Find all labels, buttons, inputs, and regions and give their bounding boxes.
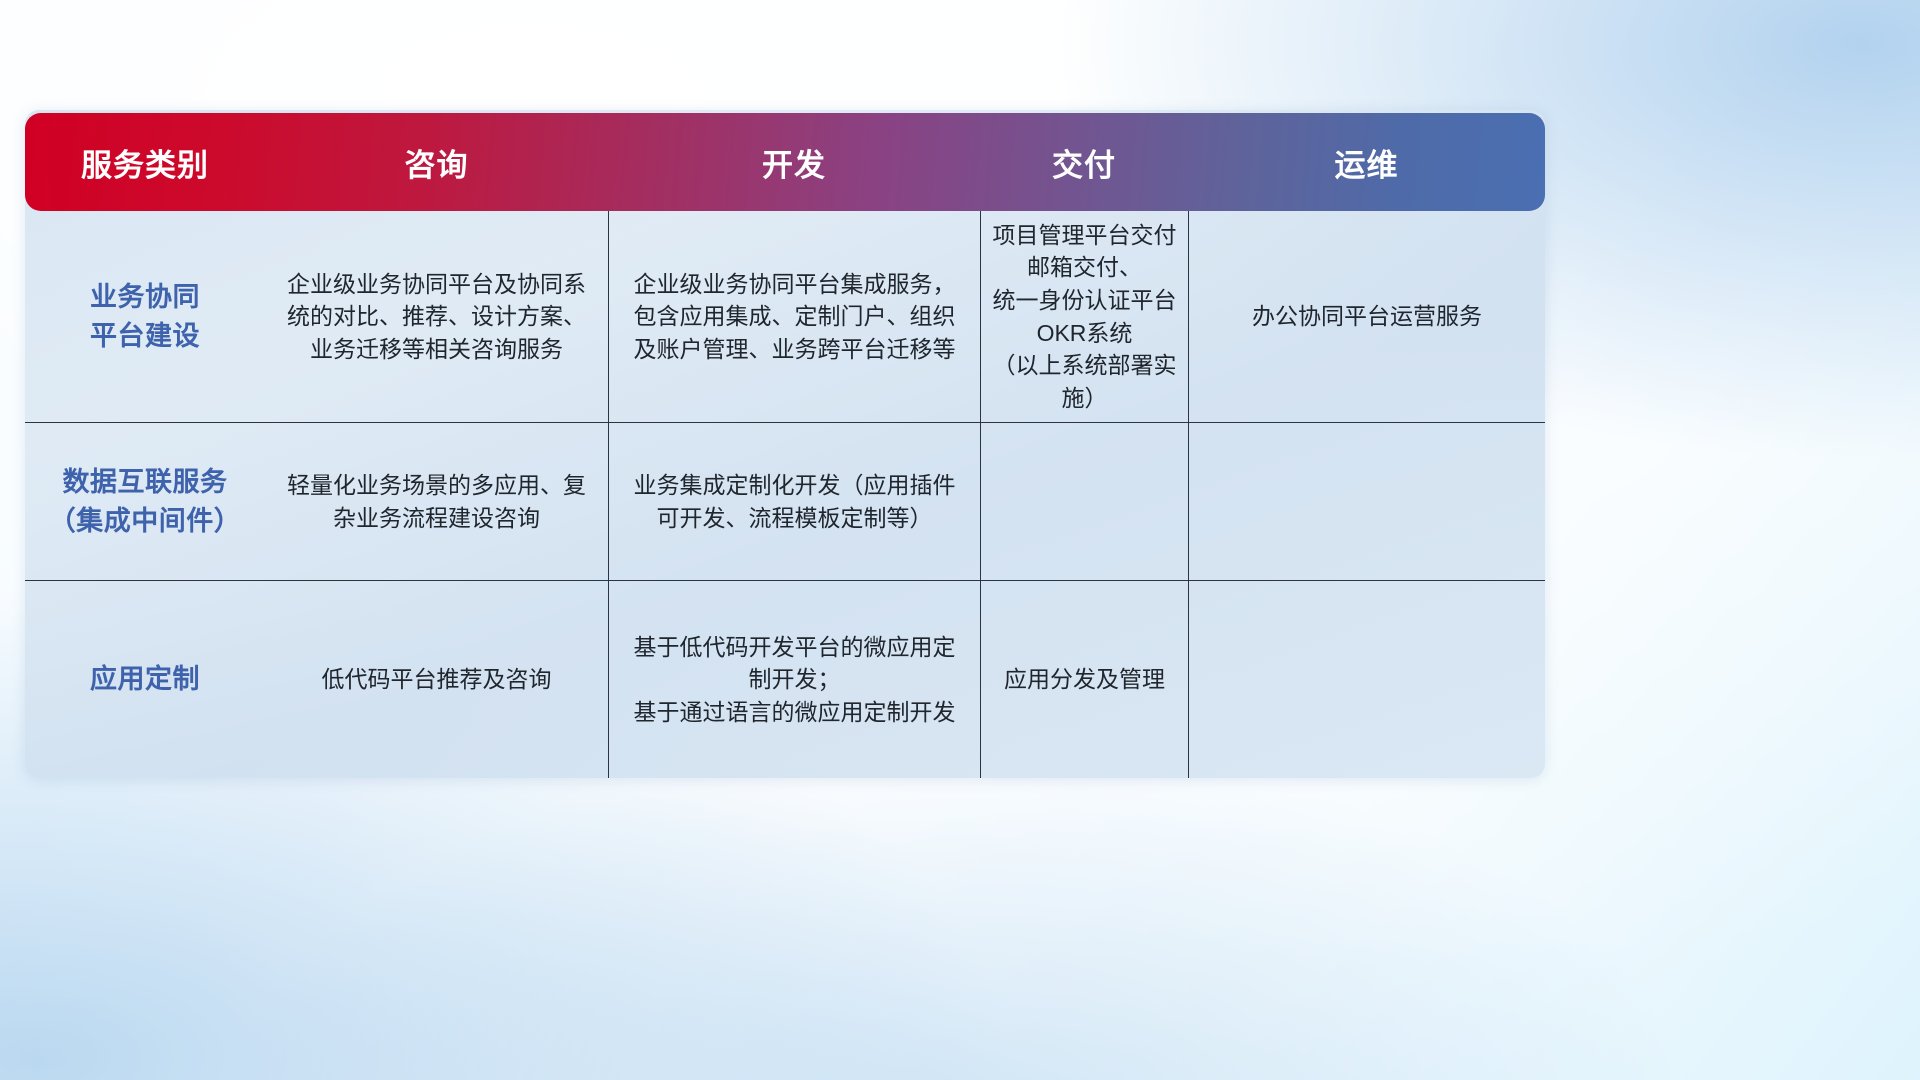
table-row: 业务协同 平台建设 企业级业务协同平台及协同系 统的对比、推荐、设计方案、 业务… bbox=[25, 211, 1545, 423]
cell-delivery bbox=[980, 423, 1188, 580]
cell-operations bbox=[1188, 423, 1545, 580]
service-matrix-card: 服务类别 咨询 开发 交付 运维 业务协同 平台建设 企业级业务协同平台及协同系… bbox=[25, 110, 1545, 778]
cell-delivery: 项目管理平台交付 邮箱交付、 统一身份认证平台 OKR系统 （以上系统部署实施） bbox=[980, 211, 1188, 422]
cell-text: 业务集成定制化开发（应用插件 可开发、流程模板定制等） bbox=[634, 469, 956, 534]
table-body: 业务协同 平台建设 企业级业务协同平台及协同系 统的对比、推荐、设计方案、 业务… bbox=[25, 211, 1545, 778]
table-row: 应用定制 低代码平台推荐及咨询 基于低代码开发平台的微应用定 制开发； 基于通过… bbox=[25, 581, 1545, 778]
cell-development: 企业级业务协同平台集成服务， 包含应用集成、定制门户、组织 及账户管理、业务跨平… bbox=[608, 211, 980, 422]
cell-operations bbox=[1188, 581, 1545, 778]
cell-development: 基于低代码开发平台的微应用定 制开发； 基于通过语言的微应用定制开发 bbox=[608, 581, 980, 778]
cell-development: 业务集成定制化开发（应用插件 可开发、流程模板定制等） bbox=[608, 423, 980, 580]
cell-operations: 办公协同平台运营服务 bbox=[1188, 211, 1545, 422]
table-row: 数据互联服务 （集成中间件） 轻量化业务场景的多应用、复 杂业务流程建设咨询 业… bbox=[25, 423, 1545, 581]
cell-text: 低代码平台推荐及咨询 bbox=[322, 663, 552, 696]
category-label: 应用定制 bbox=[90, 660, 200, 698]
cell-text: 基于低代码开发平台的微应用定 制开发； 基于通过语言的微应用定制开发 bbox=[634, 631, 956, 729]
column-header-operations: 运维 bbox=[1188, 140, 1545, 185]
cell-category: 数据互联服务 （集成中间件） bbox=[25, 423, 265, 580]
column-header-consulting: 咨询 bbox=[265, 140, 608, 185]
column-header-development: 开发 bbox=[608, 140, 980, 185]
cell-text: 企业级业务协同平台集成服务， 包含应用集成、定制门户、组织 及账户管理、业务跨平… bbox=[634, 268, 956, 366]
cell-consulting: 低代码平台推荐及咨询 bbox=[265, 581, 608, 778]
cell-consulting: 轻量化业务场景的多应用、复 杂业务流程建设咨询 bbox=[265, 423, 608, 580]
category-label: 业务协同 平台建设 bbox=[90, 278, 200, 355]
table-header-row: 服务类别 咨询 开发 交付 运维 bbox=[25, 113, 1545, 211]
cell-consulting: 企业级业务协同平台及协同系 统的对比、推荐、设计方案、 业务迁移等相关咨询服务 bbox=[265, 211, 608, 422]
cell-category: 应用定制 bbox=[25, 581, 265, 778]
cell-text: 轻量化业务场景的多应用、复 杂业务流程建设咨询 bbox=[287, 469, 586, 534]
cell-text: 企业级业务协同平台及协同系 统的对比、推荐、设计方案、 业务迁移等相关咨询服务 bbox=[287, 268, 586, 366]
column-header-category: 服务类别 bbox=[25, 140, 265, 185]
cell-text: 办公协同平台运营服务 bbox=[1252, 300, 1482, 333]
cell-category: 业务协同 平台建设 bbox=[25, 211, 265, 422]
category-label: 数据互联服务 （集成中间件） bbox=[49, 463, 242, 540]
cell-delivery: 应用分发及管理 bbox=[980, 581, 1188, 778]
column-header-delivery: 交付 bbox=[980, 140, 1188, 185]
cell-text: 应用分发及管理 bbox=[1004, 663, 1165, 696]
cell-text: 项目管理平台交付 邮箱交付、 统一身份认证平台 OKR系统 （以上系统部署实施） bbox=[991, 219, 1178, 415]
